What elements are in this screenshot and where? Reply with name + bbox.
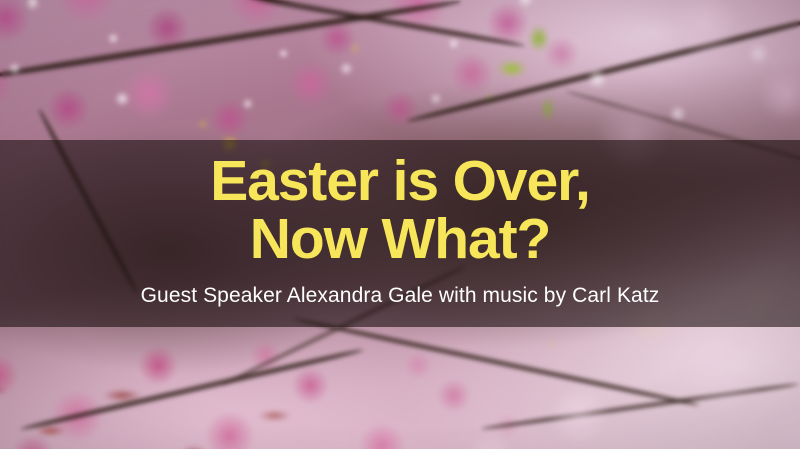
- event-poster: Easter is Over, Now What? Guest Speaker …: [0, 0, 800, 449]
- poster-title-line-2: Now What?: [210, 210, 590, 268]
- poster-title-line-1: Easter is Over,: [210, 152, 590, 210]
- caption-band: Easter is Over, Now What? Guest Speaker …: [0, 140, 800, 327]
- poster-title: Easter is Over, Now What?: [210, 152, 590, 268]
- poster-subtitle: Guest Speaker Alexandra Gale with music …: [141, 284, 660, 308]
